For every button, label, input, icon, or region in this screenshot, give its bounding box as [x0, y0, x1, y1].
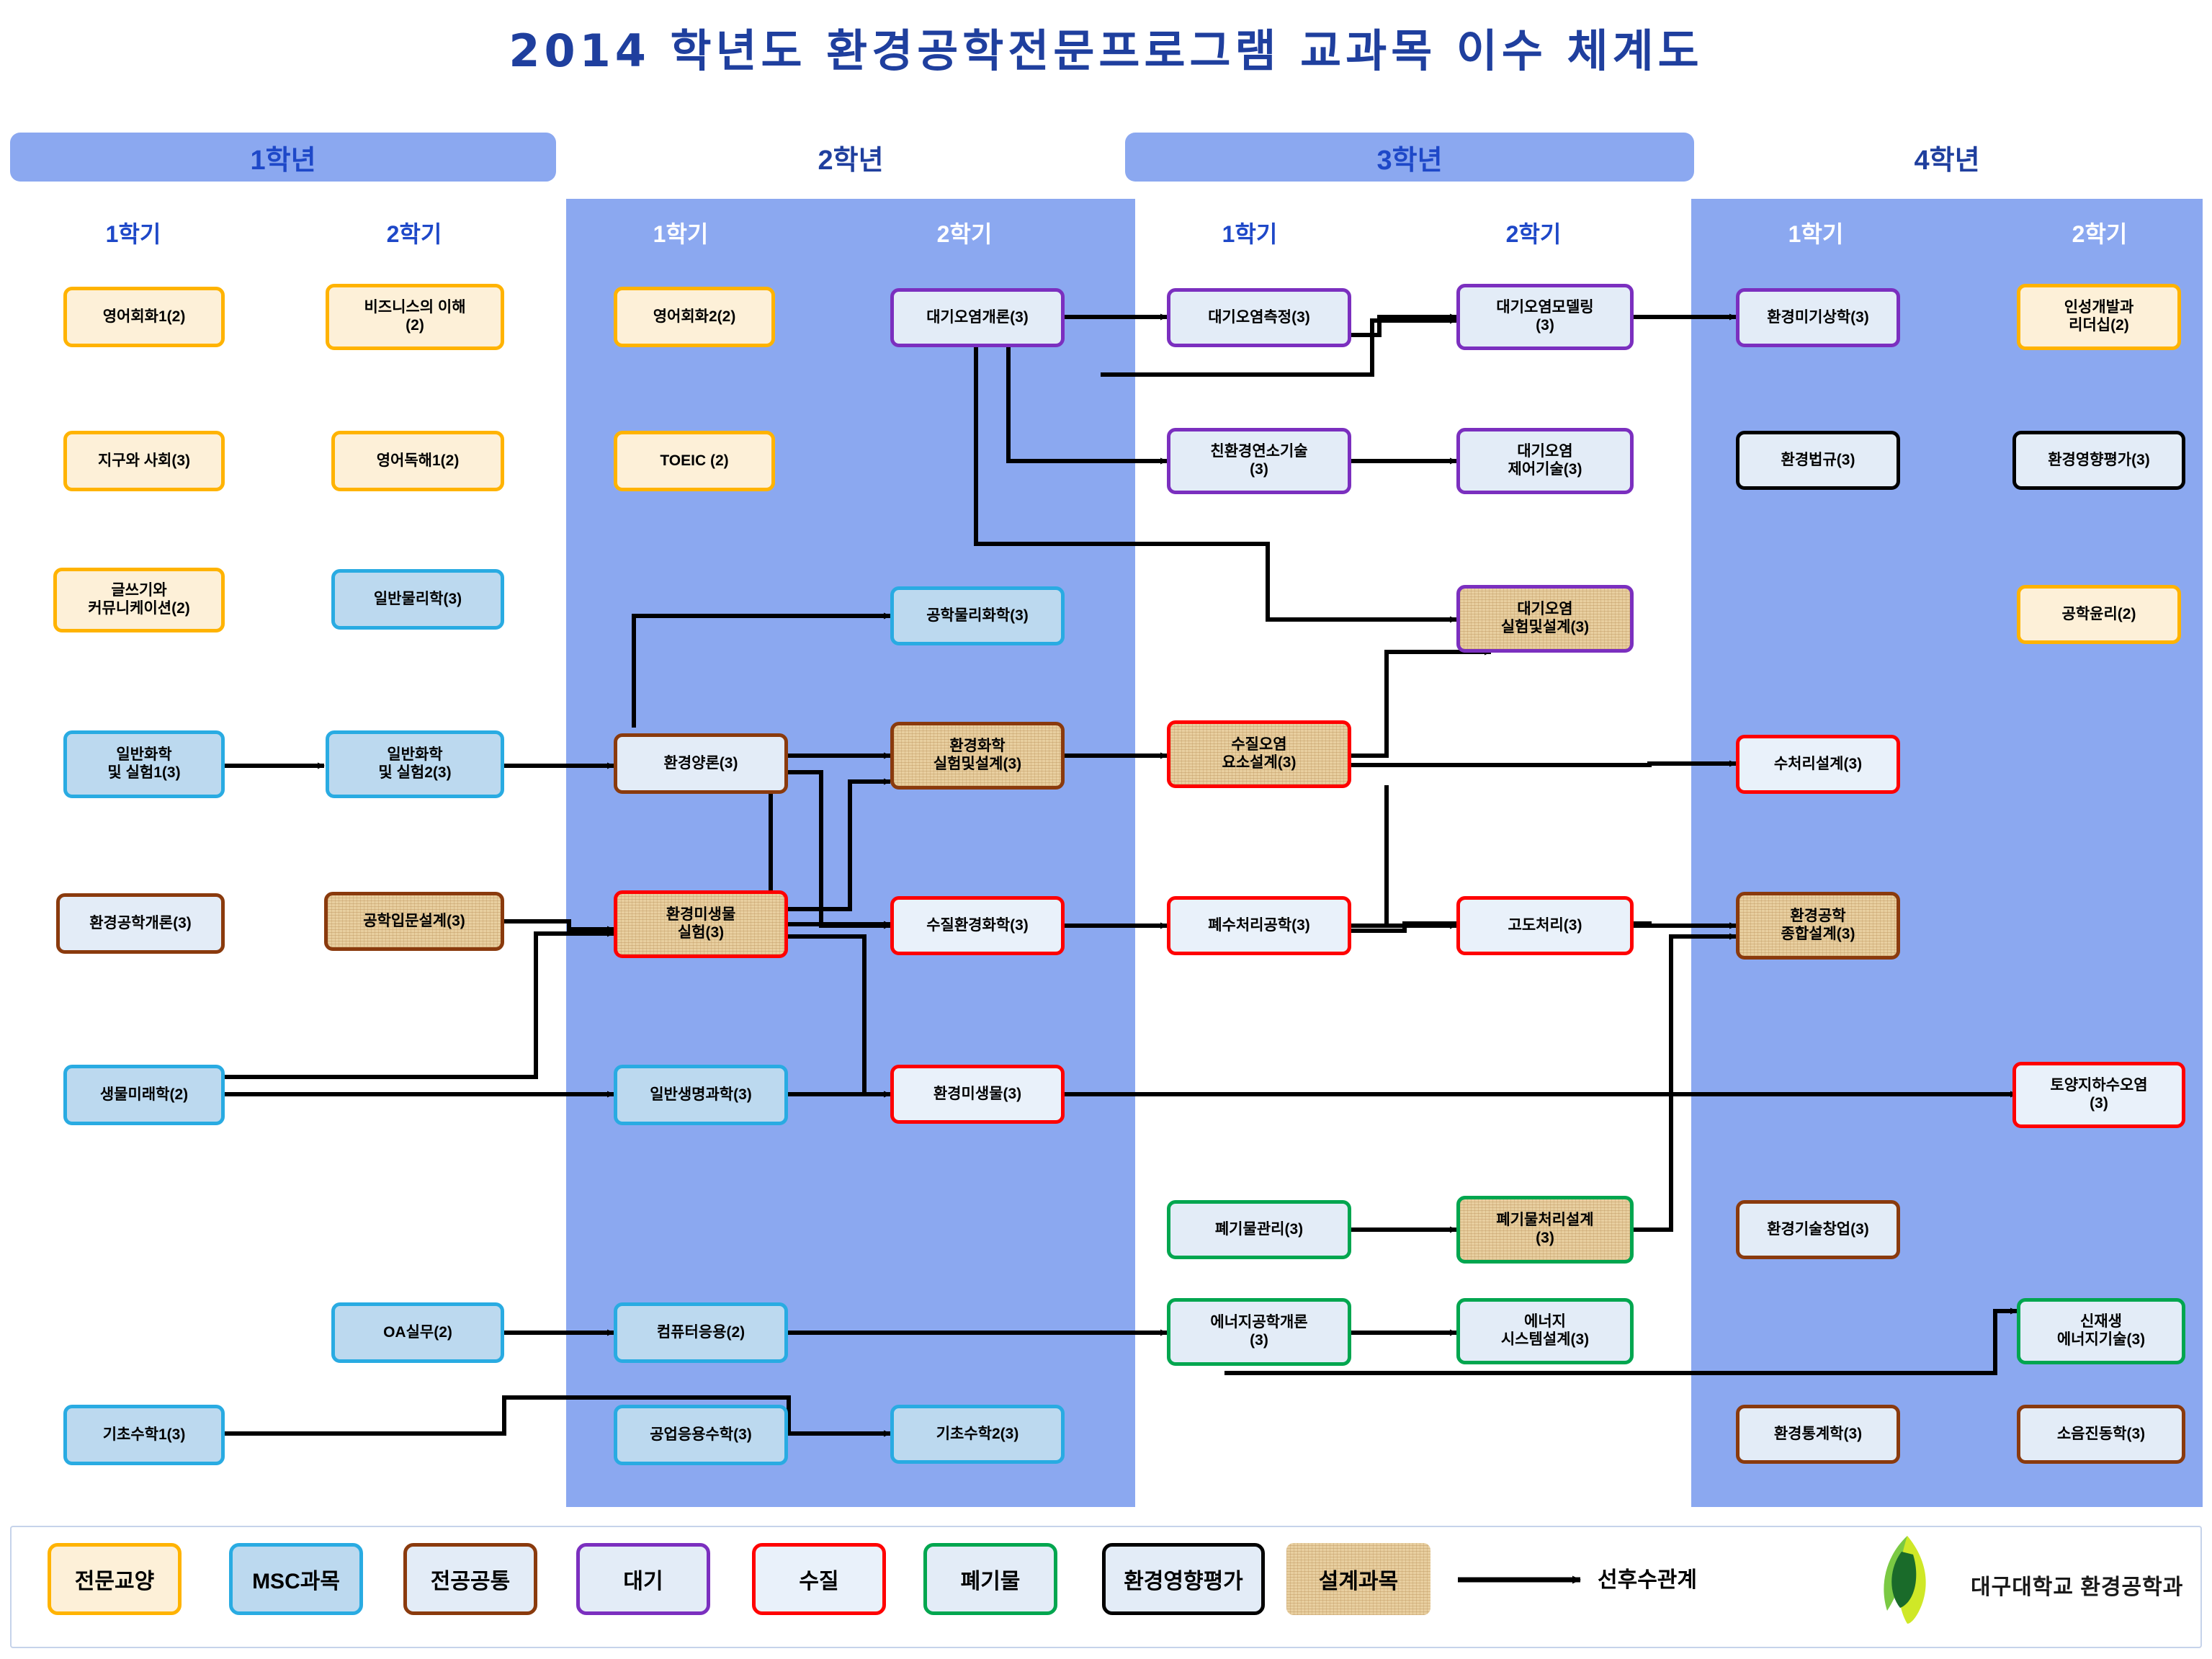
course-box[interactable]: 대기오염 제어기술(3): [1456, 428, 1634, 494]
course-box[interactable]: 일반화학 및 실험1(3): [63, 730, 225, 798]
course-box[interactable]: 영어회화2(2): [614, 287, 775, 347]
course-box[interactable]: 환경통계학(3): [1736, 1405, 1900, 1464]
year-bar-3: 3학년: [1125, 133, 1694, 182]
year-bar-3-label: 3학년: [1376, 138, 1442, 177]
legend-item-design-course[interactable]: 설계과목: [1286, 1543, 1430, 1615]
course-box[interactable]: 영어회화1(2): [63, 287, 225, 347]
course-box[interactable]: 일반생명과학(3): [614, 1065, 788, 1125]
course-box[interactable]: 환경미생물(3): [890, 1065, 1065, 1124]
course-box[interactable]: 에너지 시스템설계(3): [1456, 1298, 1634, 1364]
course-box[interactable]: 환경공학개론(3): [56, 893, 225, 954]
course-box[interactable]: TOEIC (2): [614, 431, 775, 491]
course-box[interactable]: 대기오염 실험및설계(3): [1456, 585, 1634, 653]
course-box[interactable]: 기초수학1(3): [63, 1405, 225, 1465]
course-box[interactable]: 토양지하수오염 (3): [2012, 1062, 2185, 1128]
course-box[interactable]: 영어독해1(2): [331, 431, 504, 491]
course-box[interactable]: 컴퓨터응용(2): [614, 1302, 788, 1363]
course-box[interactable]: 환경미기상학(3): [1736, 288, 1900, 347]
page-title: 2014 학년도 환경공학전문프로그램 교과목 이수 체계도: [0, 14, 2212, 79]
sem-label-y2s2: 2학기: [882, 216, 1047, 249]
course-box[interactable]: 공학물리화학(3): [890, 586, 1065, 645]
legend-item-air[interactable]: 대기: [576, 1543, 710, 1615]
course-box[interactable]: 폐기물관리(3): [1167, 1200, 1351, 1259]
year-bar-1-label: 1학년: [250, 138, 315, 177]
sem-label-y3s1: 1학기: [1167, 216, 1333, 249]
legend-item-general-education[interactable]: 전문교양: [48, 1543, 182, 1615]
course-box[interactable]: 대기오염모델링 (3): [1456, 284, 1634, 350]
year-bar-2: 2학년: [566, 133, 1135, 182]
year-bar-1: 1학년: [10, 133, 556, 182]
legend-item-waste[interactable]: 폐기물: [923, 1543, 1057, 1615]
course-box[interactable]: 고도처리(3): [1456, 896, 1634, 955]
course-box[interactable]: OA실무(2): [331, 1302, 504, 1363]
course-box[interactable]: 공학윤리(2): [2017, 585, 2181, 644]
sem-label-y1s1: 1학기: [50, 216, 216, 249]
course-box[interactable]: 일반화학 및 실험2(3): [326, 730, 504, 798]
course-box[interactable]: 기초수학2(3): [890, 1405, 1065, 1464]
year-bar-4-label: 4학년: [1914, 138, 1979, 177]
course-box[interactable]: 비즈니스의 이해 (2): [326, 284, 504, 350]
legend-item-major-common[interactable]: 전공공통: [403, 1543, 537, 1615]
sem-label-y3s2: 2학기: [1451, 216, 1616, 249]
course-box[interactable]: 수질오염 요소설계(3): [1167, 720, 1351, 788]
course-box[interactable]: 환경양론(3): [614, 733, 788, 794]
course-box[interactable]: 환경공학 종합설계(3): [1736, 892, 1900, 960]
legend-arrow-icon: [1458, 1562, 1595, 1598]
course-box[interactable]: 폐수처리공학(3): [1167, 896, 1351, 955]
course-box[interactable]: 지구와 사회(3): [63, 431, 225, 491]
course-box[interactable]: 환경기술창업(3): [1736, 1200, 1900, 1259]
course-box[interactable]: 폐기물처리설계 (3): [1456, 1196, 1634, 1264]
department-name: 대구대학교 환경공학과: [1971, 1569, 2183, 1601]
university-logo-icon: [1866, 1533, 1959, 1627]
sem-label-y4s1: 1학기: [1733, 216, 1899, 249]
course-box[interactable]: 수처리설계(3): [1736, 735, 1900, 794]
course-box[interactable]: 신재생 에너지기술(3): [2017, 1298, 2185, 1364]
sem-label-y2s1: 1학기: [598, 216, 764, 249]
course-box[interactable]: 환경미생물 실험(3): [614, 890, 788, 958]
course-box[interactable]: 일반물리학(3): [331, 569, 504, 630]
course-box[interactable]: 환경법규(3): [1736, 431, 1900, 490]
course-box[interactable]: 환경영향평가(3): [2012, 431, 2185, 490]
course-box[interactable]: 환경화학 실험및설계(3): [890, 722, 1065, 790]
course-box[interactable]: 생물미래학(2): [63, 1065, 225, 1125]
course-box[interactable]: 소음진동학(3): [2017, 1405, 2185, 1464]
course-box[interactable]: 공업응용수학(3): [614, 1405, 788, 1465]
course-box[interactable]: 대기오염개론(3): [890, 288, 1065, 347]
course-box[interactable]: 글쓰기와 커뮤니케이션(2): [53, 568, 225, 632]
course-box[interactable]: 친환경연소기술 (3): [1167, 428, 1351, 494]
course-box[interactable]: 에너지공학개론 (3): [1167, 1298, 1351, 1366]
course-box[interactable]: 공학입문설계(3): [324, 892, 504, 951]
course-box[interactable]: 인성개발과 리더십(2): [2017, 284, 2181, 350]
course-box[interactable]: 수질환경화학(3): [890, 896, 1065, 955]
course-box[interactable]: 대기오염측정(3): [1167, 288, 1351, 347]
legend-item-eia[interactable]: 환경영향평가: [1102, 1543, 1265, 1615]
legend-item-msc[interactable]: MSC과목: [229, 1543, 363, 1615]
sem-label-y4s2: 2학기: [2017, 216, 2182, 249]
year-bar-2-label: 2학년: [818, 138, 883, 177]
year-bar-4: 4학년: [1691, 133, 2203, 182]
legend-item-water[interactable]: 수질: [752, 1543, 886, 1615]
legend-relation-label: 선후수관계: [1598, 1562, 1697, 1593]
sem-label-y1s2: 2학기: [331, 216, 497, 249]
